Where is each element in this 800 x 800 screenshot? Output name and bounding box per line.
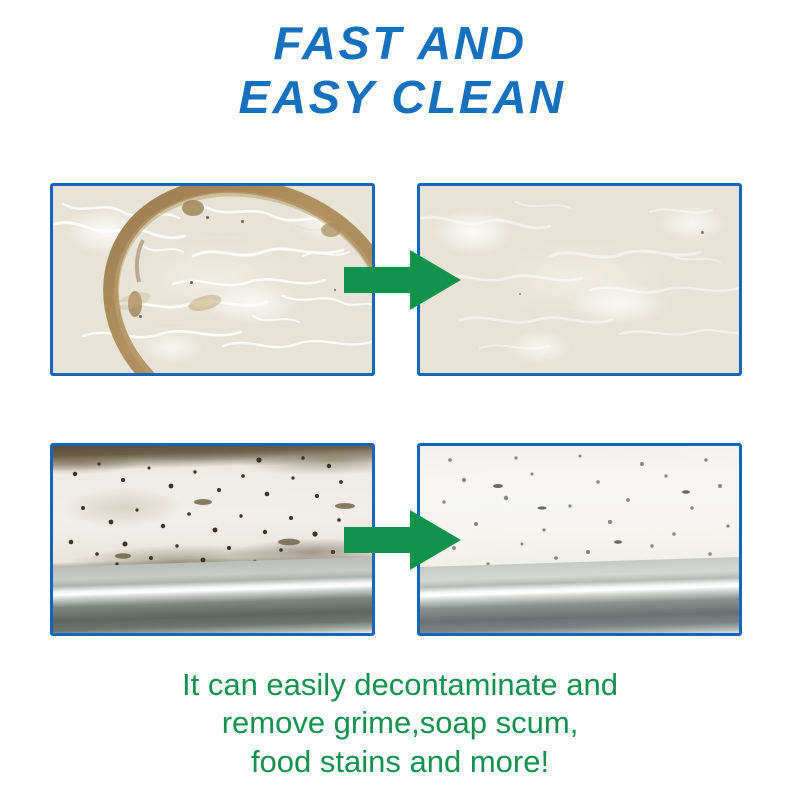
caulk-surface-clean — [420, 446, 739, 633]
caption-line-2: remove grime,soap scum, — [0, 704, 800, 742]
before-image-coffee-ring — [50, 183, 375, 376]
after-image-clean-countertop — [417, 183, 742, 376]
after-image-clean-caulk — [417, 443, 742, 636]
transformation-arrow-top — [344, 249, 462, 311]
caulk-surface-moldy — [53, 446, 372, 633]
headline-line-2: EASY CLEAN — [0, 74, 800, 120]
before-image-moldy-caulk — [50, 443, 375, 636]
coffee-ring-stain — [53, 186, 372, 373]
caption-line-3: food stains and more! — [0, 743, 800, 781]
metal-trim — [420, 556, 739, 633]
countertop-surface-clean — [420, 186, 739, 373]
page-title: FAST AND EASY CLEAN — [0, 20, 800, 120]
caption-line-1: It can easily decontaminate and — [0, 666, 800, 704]
transformation-arrow-bottom — [344, 509, 462, 571]
metal-trim — [53, 556, 372, 633]
countertop-surface-stained — [53, 186, 372, 373]
headline-line-1: FAST AND — [0, 20, 800, 66]
promo-image-root: FAST AND EASY CLEAN — [0, 0, 800, 800]
caption-text: It can easily decontaminate and remove g… — [0, 666, 800, 781]
marble-vein-overlay — [420, 186, 739, 373]
